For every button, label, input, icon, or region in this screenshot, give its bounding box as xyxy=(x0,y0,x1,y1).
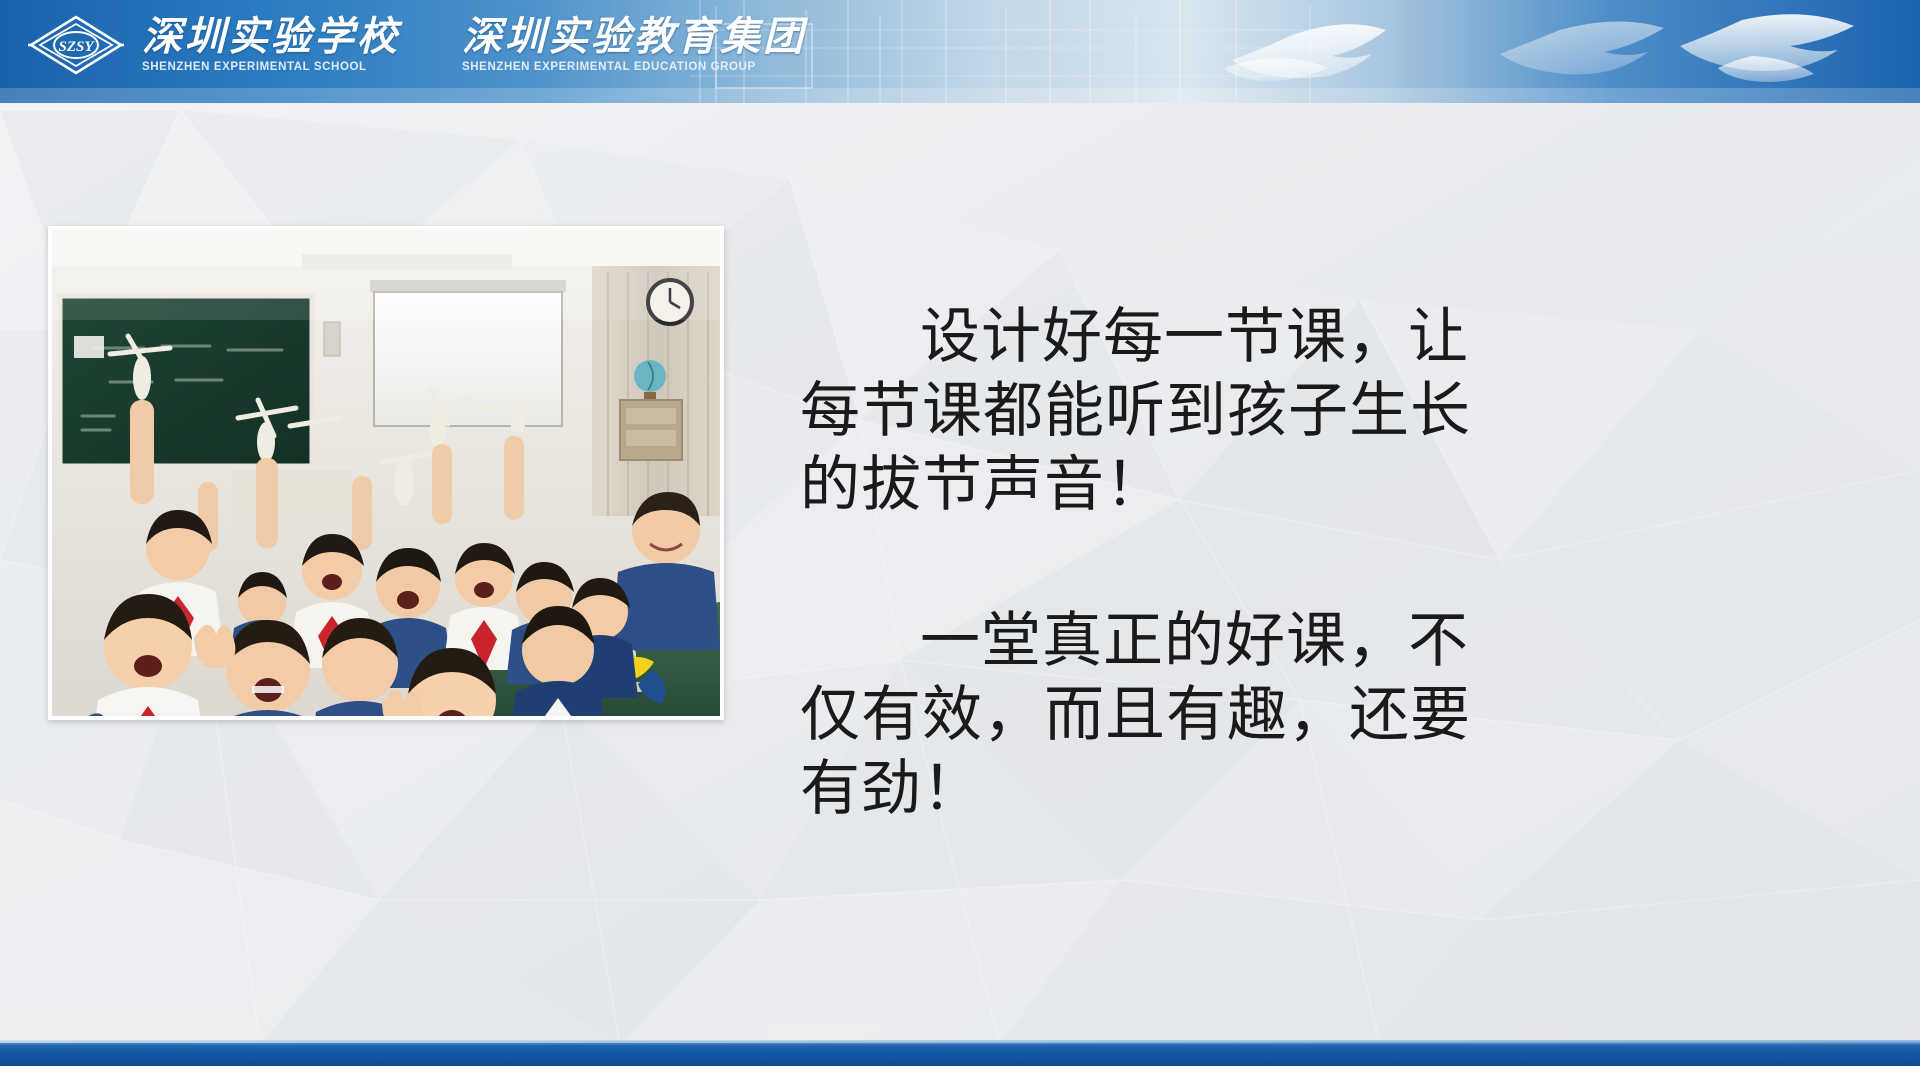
classroom-photo-image xyxy=(52,230,720,716)
footer-accent-bar xyxy=(0,1040,1920,1066)
paragraph-one: 设计好每一节课，让每节课都能听到孩子生长的拔节声音！ xyxy=(800,300,1490,522)
classroom-photo xyxy=(48,226,724,720)
footer-bar-highlight xyxy=(0,1040,1920,1043)
szsy-diamond-emblem-icon: SZSY xyxy=(28,14,124,76)
brand-lockup: SZSY 深圳实验学校 SHENZHEN EXPERIMENTAL SCHOOL… xyxy=(28,14,806,76)
presentation-slide: SZSY 深圳实验学校 SHENZHEN EXPERIMENTAL SCHOOL… xyxy=(0,0,1920,1080)
header-banner: SZSY 深圳实验学校 SHENZHEN EXPERIMENTAL SCHOOL… xyxy=(0,0,1920,103)
school-name-cn: 深圳实验学校 xyxy=(142,17,400,58)
school-brand-text: 深圳实验学校 SHENZHEN EXPERIMENTAL SCHOOL xyxy=(142,17,400,73)
svg-text:SZSY: SZSY xyxy=(58,39,95,55)
group-brand-text: 深圳实验教育集团 SHENZHEN EXPERIMENTAL EDUCATION… xyxy=(462,17,806,73)
group-name-en: SHENZHEN EXPERIMENTAL EDUCATION GROUP xyxy=(462,61,806,73)
footer-white-margin xyxy=(0,1066,1920,1080)
paragraph-two: 一堂真正的好课，不仅有效，而且有趣，还要有劲！ xyxy=(800,604,1490,826)
school-name-en: SHENZHEN EXPERIMENTAL SCHOOL xyxy=(142,61,400,73)
slide-text-block: 设计好每一节课，让每节课都能听到孩子生长的拔节声音！ 一堂真正的好课，不仅有效，… xyxy=(800,240,1490,886)
group-name-cn: 深圳实验教育集团 xyxy=(462,17,806,58)
